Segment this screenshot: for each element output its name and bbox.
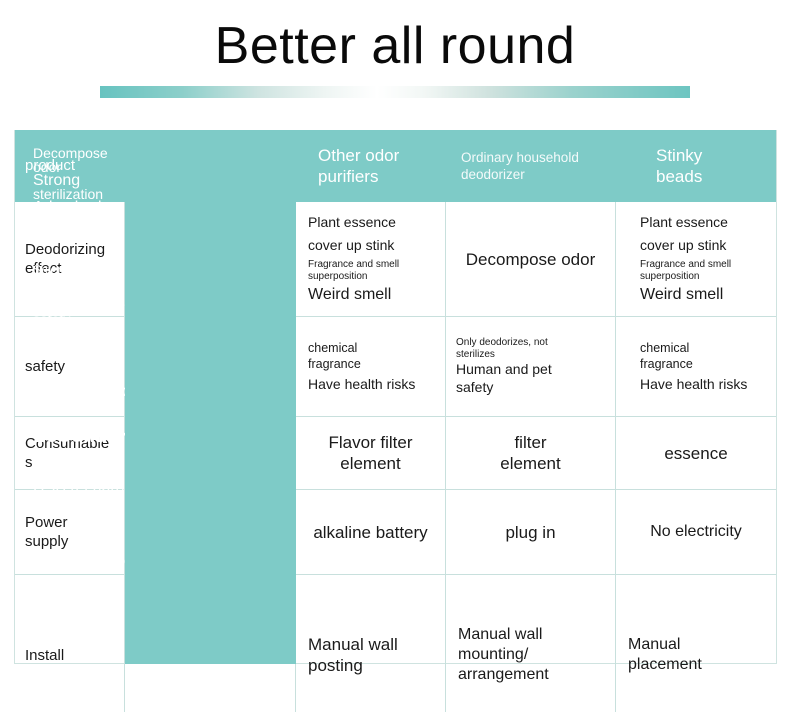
featured-cell-safety: Scientific deodorization Human and pet s… [15, 245, 186, 345]
cell-text: No electricity [626, 522, 766, 542]
cell-text: chemical [308, 340, 435, 356]
cell-other-purifiers-deodorizing-effect: Plant essence cover up stink Fragrance a… [296, 202, 446, 316]
cell-text: Have health risks [640, 375, 766, 393]
cell-stinky-beads-deodorizing-effect: Plant essence cover up stink Fragrance a… [616, 202, 776, 316]
featured-text: Magnetic [33, 573, 168, 593]
featured-cell-install: Conveniency Magnetic installation [15, 503, 186, 664]
header-cell-stinky-beads: Stinky beads [616, 130, 776, 202]
cell-stinky-beads-power-supply: No electricity [616, 490, 776, 574]
cell-stinky-beads-safety: chemical fragrance Have health risks [616, 317, 776, 416]
featured-text: USB rechargeable [33, 479, 168, 499]
cell-text: Fragrance and smell [308, 259, 435, 271]
cell-text: mounting/ [458, 645, 605, 665]
header-household-line1: Ordinary household [461, 149, 606, 166]
featured-cell-consumables: No consumables [15, 345, 186, 418]
cell-text: superposition [640, 271, 766, 283]
featured-text: deodorization [33, 278, 168, 293]
cell-text: placement [628, 655, 766, 675]
cell-text: superposition [308, 271, 435, 283]
cell-text: safety [456, 378, 605, 396]
cell-text: sterilizes [456, 349, 605, 361]
featured-product-column: Decompose odor Strong sterilization Adso… [15, 130, 186, 664]
cell-text: essence [626, 443, 766, 464]
cell-text: Have health risks [308, 375, 435, 393]
featured-text: dust [33, 215, 168, 229]
cell-text: element [456, 453, 605, 474]
cell-text: Plant essence [308, 213, 435, 231]
cell-text: Weird smell [640, 285, 766, 305]
header-stinky-beads-line2: beads [656, 166, 766, 187]
cell-text: Weird smell [308, 285, 435, 305]
featured-text: No [33, 362, 168, 382]
header-other-purifiers-line1: Other odor [318, 145, 436, 166]
header-household-line2: deodorizer [461, 166, 606, 183]
page-title-text: Better all round [215, 17, 576, 75]
featured-text: Large capacity [33, 448, 168, 462]
cell-other-purifiers-install: Manual wall posting [296, 575, 446, 712]
cell-text: Plant essence [640, 213, 766, 231]
cell-text: fragrance [640, 356, 766, 372]
cell-text: fragrance [308, 356, 435, 372]
cell-text: Only deodorizes, not [456, 337, 605, 349]
cell-text: arrangement [458, 665, 605, 685]
featured-battery-capacity: 1680MAH [33, 422, 168, 448]
featured-cell-deodorizing-effect: Decompose odor Strong sterilization Adso… [15, 130, 186, 245]
cell-household-deodorizer-deodorizing-effect: Decompose odor [446, 202, 616, 316]
cell-text: Human and pet [456, 360, 605, 378]
cell-text: Manual wall [458, 625, 605, 645]
comparison-infographic: Better all round product Ulaish Intellig… [0, 0, 790, 712]
header-other-purifiers-line2: purifiers [318, 166, 436, 187]
cell-text: Manual wall [308, 634, 435, 655]
featured-text: Conveniency [33, 554, 168, 569]
featured-text: Scientific [33, 263, 168, 278]
cell-text: cover up stink [640, 236, 766, 254]
featured-text: consumables [33, 382, 168, 402]
header-cell-household-deodorizer: Ordinary household deodorizer [446, 130, 616, 202]
cell-text: Decompose odor [456, 249, 605, 270]
header-stinky-beads-line1: Stinky [656, 145, 766, 166]
cell-text: element [306, 453, 435, 474]
title-underline-bar [100, 86, 690, 98]
featured-cell-power-supply: 1680MAH Large capacity battery USB recha… [15, 418, 186, 503]
cell-text: Manual [628, 635, 766, 655]
cell-household-deodorizer-consumables: filter element [446, 417, 616, 489]
cell-other-purifiers-safety: chemical fragrance Have health risks [296, 317, 446, 416]
cell-text: Fragrance and smell [640, 259, 766, 271]
cell-stinky-beads-install: Manual placement [616, 575, 776, 712]
cell-text: cover up stink [308, 236, 435, 254]
cell-household-deodorizer-power-supply: plug in [446, 490, 616, 574]
cell-stinky-beads-consumables: essence [616, 417, 776, 489]
featured-text: installation [33, 593, 168, 613]
cell-text: alkaline battery [306, 522, 435, 543]
featured-text: Human and pet safety [33, 297, 168, 327]
cell-household-deodorizer-safety: Only deodorizes, not sterilizes Human an… [446, 317, 616, 416]
cell-text: filter [456, 432, 605, 453]
cell-household-deodorizer-install: Manual wall mounting/ arrangement [446, 575, 616, 712]
cell-other-purifiers-power-supply: alkaline battery [296, 490, 446, 574]
page-title: Better all round [0, 16, 790, 76]
cell-text: posting [308, 655, 435, 676]
comparison-table: product Ulaish Intelligence Deodorizing … [14, 130, 777, 664]
cell-text: chemical [640, 340, 766, 356]
cell-other-purifiers-consumables: Flavor filter element [296, 417, 446, 489]
cell-text: plug in [456, 522, 605, 543]
featured-text: battery [33, 462, 168, 476]
cell-text: Flavor filter [306, 432, 435, 453]
header-cell-other-purifiers: Other odor purifiers [296, 130, 446, 202]
